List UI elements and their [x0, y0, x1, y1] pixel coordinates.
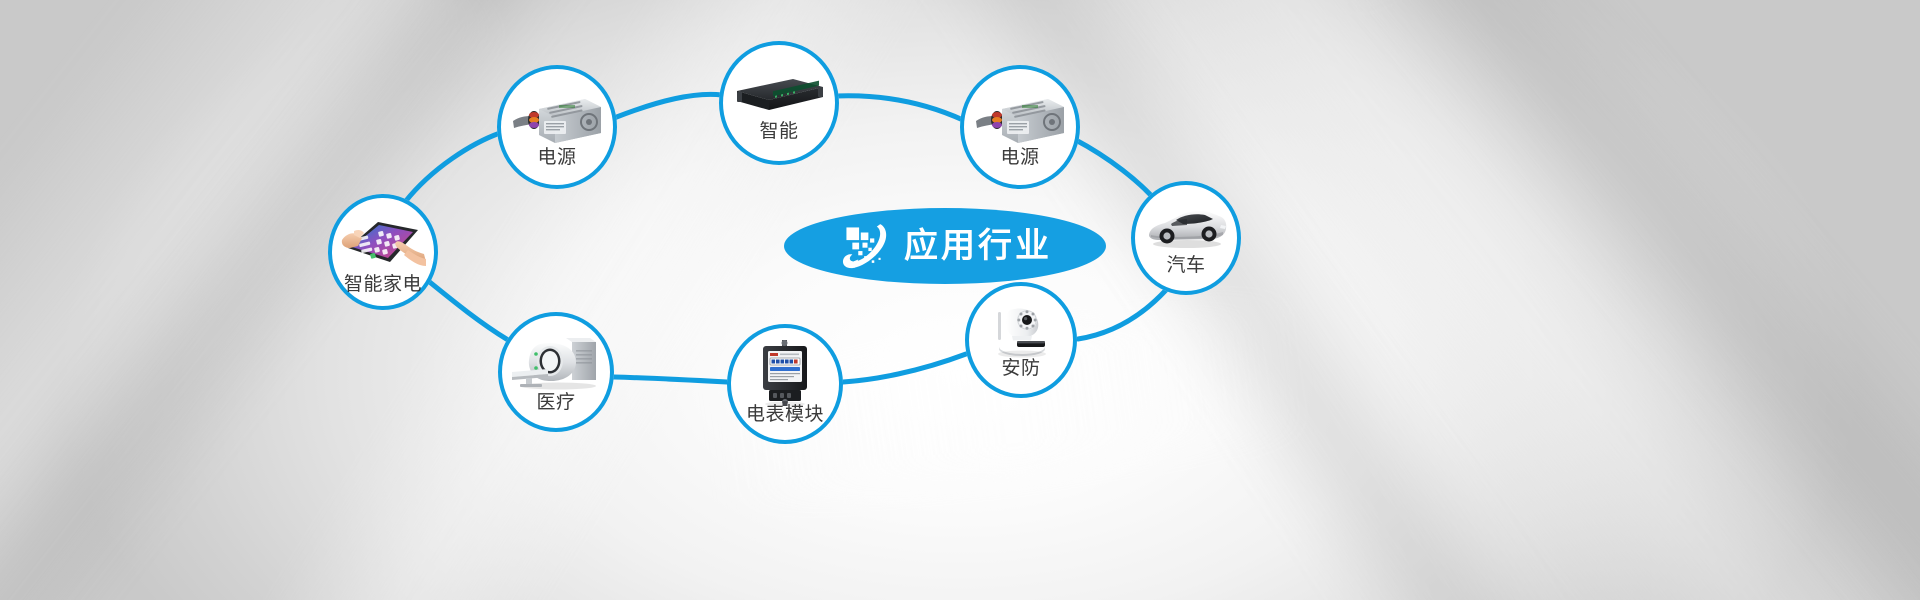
connector-smart-to-powerright	[836, 96, 963, 120]
node-label: 智能	[759, 122, 798, 141]
connector-graph	[0, 0, 1920, 600]
node-automotive[interactable]: 汽车	[1131, 181, 1241, 295]
connector-meter-to-medical	[614, 377, 727, 382]
connector-powerleft-to-smart	[614, 94, 722, 118]
node-smart[interactable]: 智能	[719, 41, 839, 165]
mri-scanner-icon	[510, 336, 602, 390]
node-power-left[interactable]: 电源	[497, 65, 617, 189]
swoosh-pixel-logo-icon	[838, 219, 892, 273]
connector-security-to-meter	[843, 354, 966, 382]
node-medical[interactable]: 医疗	[498, 312, 614, 432]
electric-meter-icon	[757, 340, 813, 406]
center-badge: 应用行业	[784, 208, 1106, 284]
connector-automotive-to-security	[1078, 290, 1166, 339]
tablet-hand-icon	[340, 216, 426, 268]
power-supply-icon	[511, 91, 603, 147]
center-title: 应用行业	[904, 229, 1052, 263]
node-label: 电源	[1000, 148, 1039, 167]
connector-smarthome-to-powerleft	[405, 133, 500, 202]
ip-camera-icon	[984, 300, 1058, 358]
node-security[interactable]: 安防	[965, 282, 1077, 398]
node-label: 智能家电	[344, 275, 422, 294]
application-industries-banner: 电源	[0, 0, 1920, 600]
node-meter[interactable]: 电表模块	[727, 324, 843, 444]
connector-powerright-to-automotive	[1074, 139, 1158, 203]
node-power-right[interactable]: 电源	[960, 65, 1080, 189]
rack-server-icon	[731, 75, 827, 115]
node-smart-home[interactable]: 智能家电	[328, 194, 438, 310]
sports-car-icon	[1143, 205, 1229, 249]
node-label: 电表模块	[746, 405, 824, 424]
node-label: 安防	[1001, 359, 1040, 378]
node-label: 汽车	[1166, 256, 1205, 275]
node-label: 医疗	[536, 393, 575, 412]
power-supply-icon	[974, 91, 1066, 147]
node-label: 电源	[537, 148, 576, 167]
